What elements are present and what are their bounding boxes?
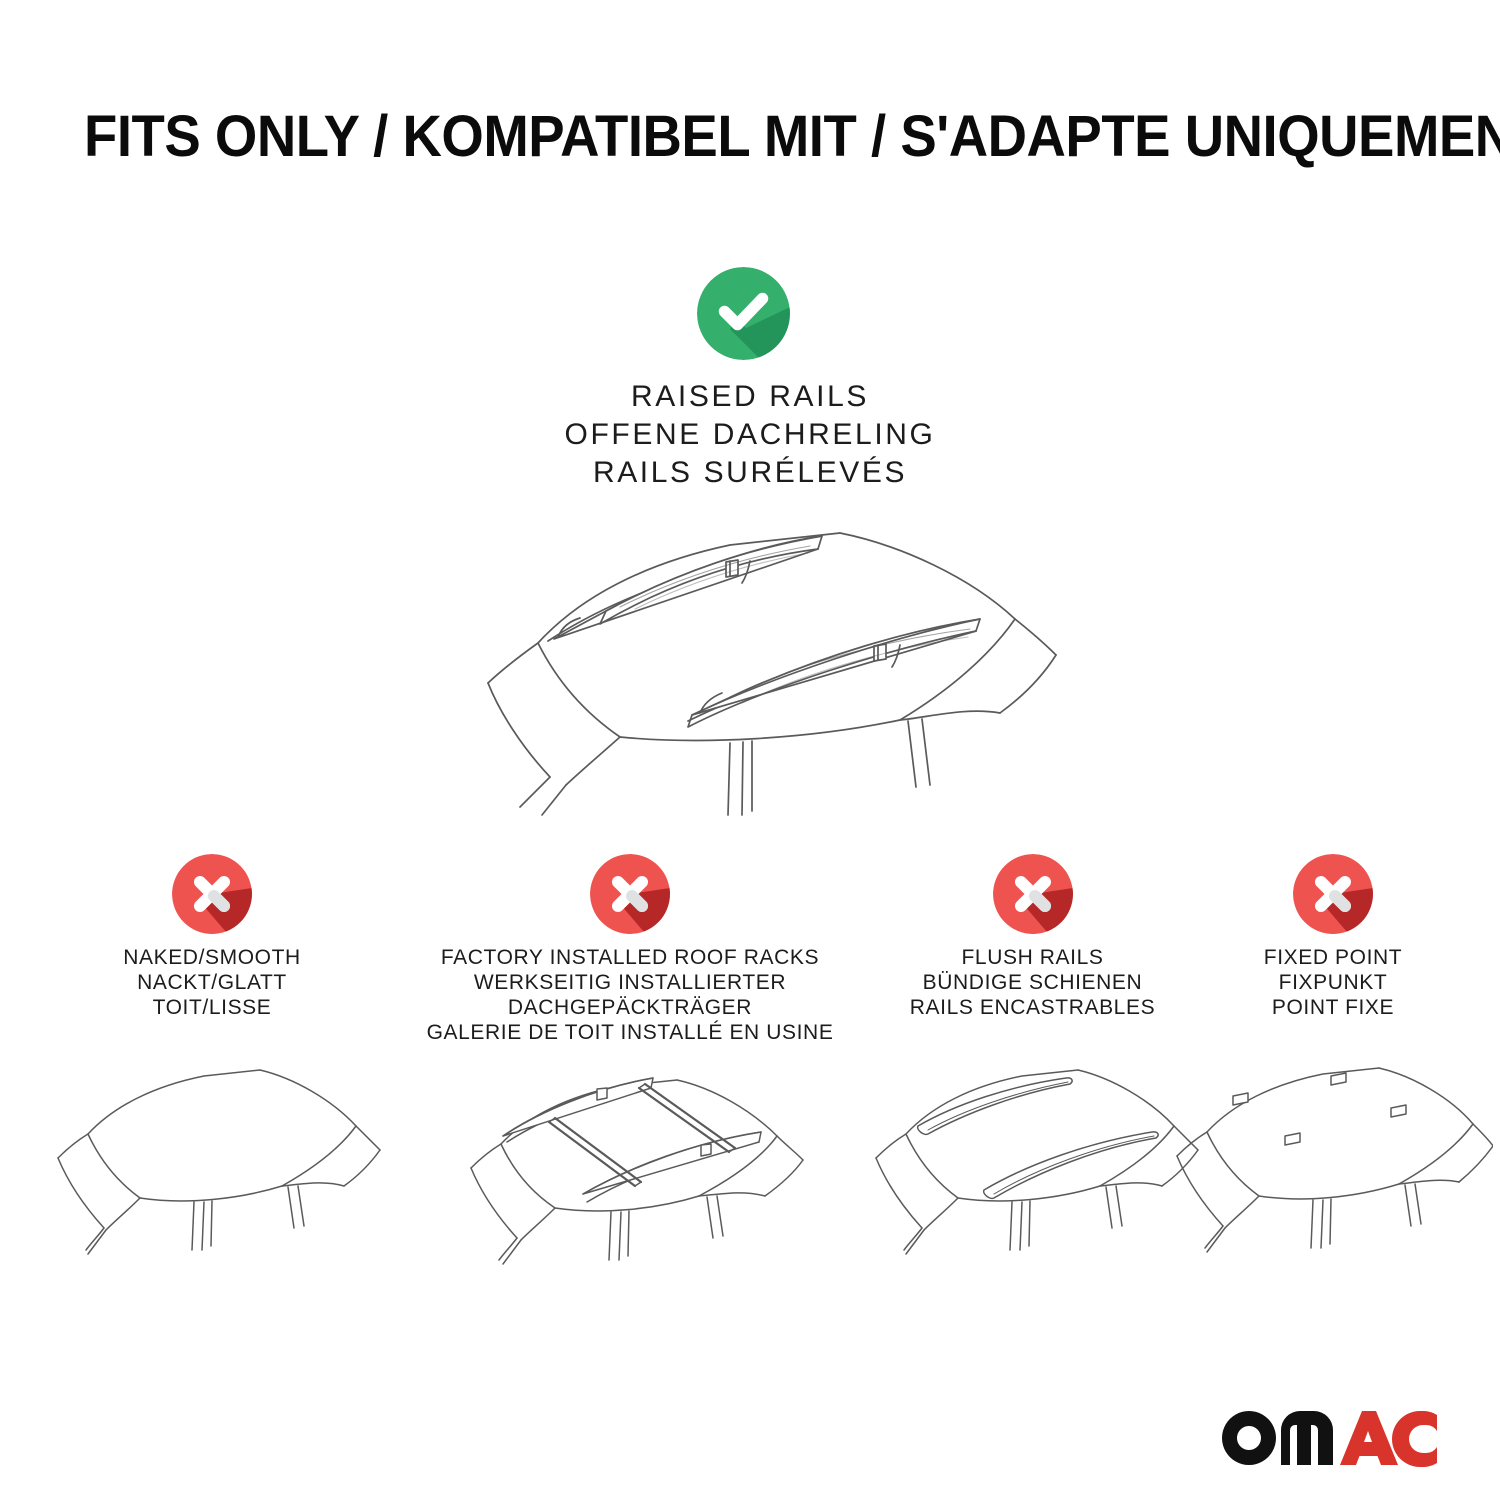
not-fit-caption-line: TOIT/LISSE: [42, 995, 382, 1020]
fit-caption-line: RAILS SURÉLEVÉS: [450, 454, 1050, 492]
car-roof-fixed-point-illustration: [1163, 1060, 1493, 1285]
page-title-text: FITS ONLY / KOMPATIBEL MIT / S'ADAPTE UN…: [84, 106, 1500, 168]
car-roof-naked-smooth-illustration: [42, 1060, 382, 1285]
x-circle-icon: [1293, 854, 1373, 934]
car-roof-factory-roof-racks-illustration: [445, 1060, 815, 1285]
not-fit-caption: FLUSH RAILS BÜNDIGE SCHIENEN RAILS ENCAS…: [860, 945, 1205, 1020]
not-fit-caption-line: RAILS ENCASTRABLES: [860, 995, 1205, 1020]
not-fit-caption-line: NACKT/GLATT: [42, 970, 382, 995]
not-fit-caption: FACTORY INSTALLED ROOF RACKS WERKSEITIG …: [400, 945, 860, 1045]
fit-caption-line: OFFENE DACHRELING: [450, 416, 1050, 454]
not-fit-caption-line: BÜNDIGE SCHIENEN: [860, 970, 1205, 995]
not-fit-caption: NAKED/SMOOTH NACKT/GLATT TOIT/LISSE: [42, 945, 382, 1020]
omac-logo: [1222, 1409, 1437, 1471]
fit-caption-line: RAISED RAILS: [450, 378, 1050, 416]
not-fit-caption-line: POINT FIXE: [1163, 995, 1500, 1020]
fit-caption: RAISED RAILS OFFENE DACHRELING RAILS SUR…: [450, 378, 1050, 492]
page-title: FITS ONLY / KOMPATIBEL MIT / S'ADAPTE UN…: [84, 104, 1424, 170]
x-circle-icon: [993, 854, 1073, 934]
car-roof-flush-rails-illustration: [860, 1060, 1200, 1285]
not-fit-caption-line: DACHGEPÄCKTRÄGER: [400, 995, 860, 1020]
not-fit-caption-line: NAKED/SMOOTH: [42, 945, 382, 970]
check-circle-icon: [697, 267, 790, 360]
x-circle-icon: [590, 854, 670, 934]
not-fit-caption: FIXED POINT FIXPUNKT POINT FIXE: [1163, 945, 1500, 1020]
not-fit-caption-line: FIXED POINT: [1163, 945, 1500, 970]
not-fit-caption-line: FIXPUNKT: [1163, 970, 1500, 995]
not-fit-caption-line: WERKSEITIG INSTALLIERTER: [400, 970, 860, 995]
not-fit-caption-line: FLUSH RAILS: [860, 945, 1205, 970]
not-fit-caption-line: FACTORY INSTALLED ROOF RACKS: [400, 945, 860, 970]
not-fit-caption-line: GALERIE DE TOIT INSTALLÉ EN USINE: [400, 1020, 860, 1045]
x-circle-icon: [172, 854, 252, 934]
car-roof-raised-rails-illustration: [430, 515, 1090, 835]
